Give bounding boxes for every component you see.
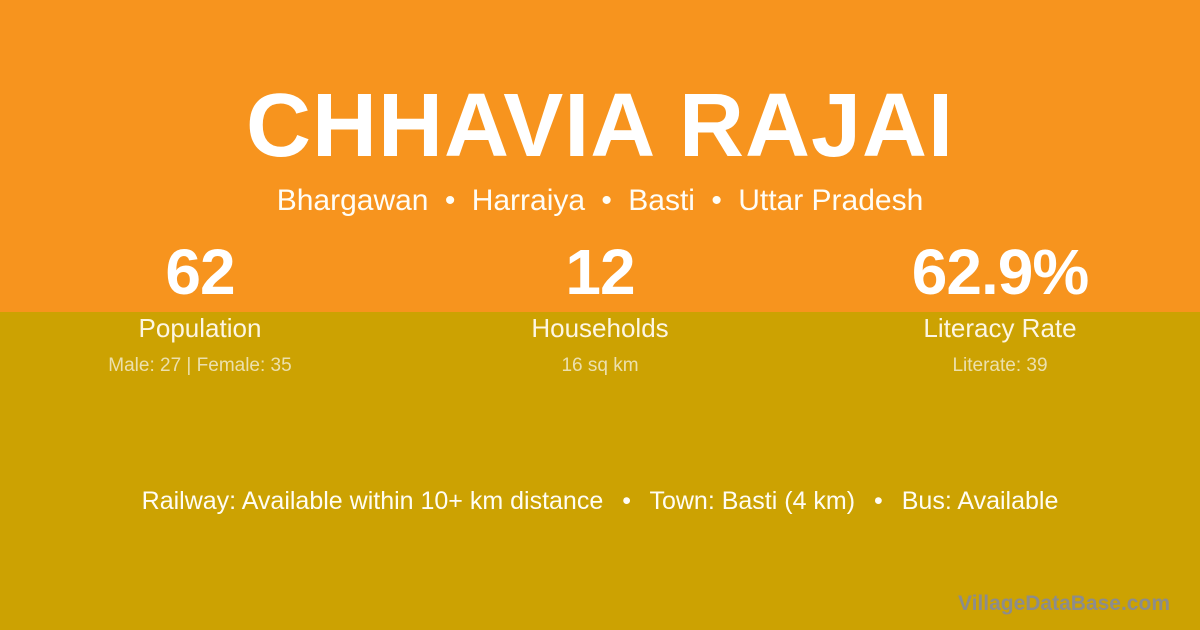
card-header: CHHAVIA RAJAI Bhargawan • Harraiya • Bas… (0, 0, 1200, 220)
stat-label: Literacy Rate (800, 312, 1200, 344)
facility-separator-icon: • (862, 484, 895, 518)
breadcrumb: Bhargawan • Harraiya • Basti • Uttar Pra… (0, 182, 1200, 220)
facility-separator-icon: • (610, 484, 643, 518)
stat-value: 62.9% (800, 236, 1200, 308)
stat-population: 62 Population Male: 27 | Female: 35 (0, 236, 400, 378)
breadcrumb-separator-icon: • (437, 182, 464, 220)
stat-label: Households (400, 312, 800, 344)
page-title: CHHAVIA RAJAI (0, 78, 1200, 174)
stat-subtext: Male: 27 | Female: 35 (0, 354, 400, 378)
breadcrumb-separator-icon: • (593, 182, 620, 220)
facility-railway: Railway: Available within 10+ km distanc… (142, 487, 604, 515)
breadcrumb-item-block: Bhargawan (277, 184, 429, 217)
facility-town: Town: Basti (4 km) (649, 487, 855, 515)
stat-label: Population (0, 312, 400, 344)
breadcrumb-item-tehsil: Harraiya (472, 184, 585, 217)
breadcrumb-item-state: Uttar Pradesh (738, 184, 923, 217)
stat-subtext: Literate: 39 (800, 354, 1200, 378)
stat-value: 12 (400, 236, 800, 308)
village-info-card: CHHAVIA RAJAI Bhargawan • Harraiya • Bas… (0, 0, 1200, 630)
breadcrumb-item-district: Basti (628, 184, 695, 217)
stat-households: 12 Households 16 sq km (400, 236, 800, 378)
facilities-line: Railway: Available within 10+ km distanc… (0, 484, 1200, 518)
stat-value: 62 (0, 236, 400, 308)
stat-literacy-rate: 62.9% Literacy Rate Literate: 39 (800, 236, 1200, 378)
breadcrumb-separator-icon: • (703, 182, 730, 220)
site-watermark: VillageDataBase.com (958, 590, 1170, 618)
facility-bus: Bus: Available (902, 487, 1059, 515)
stats-row: 62 Population Male: 27 | Female: 35 12 H… (0, 236, 1200, 378)
stat-subtext: 16 sq km (400, 354, 800, 378)
